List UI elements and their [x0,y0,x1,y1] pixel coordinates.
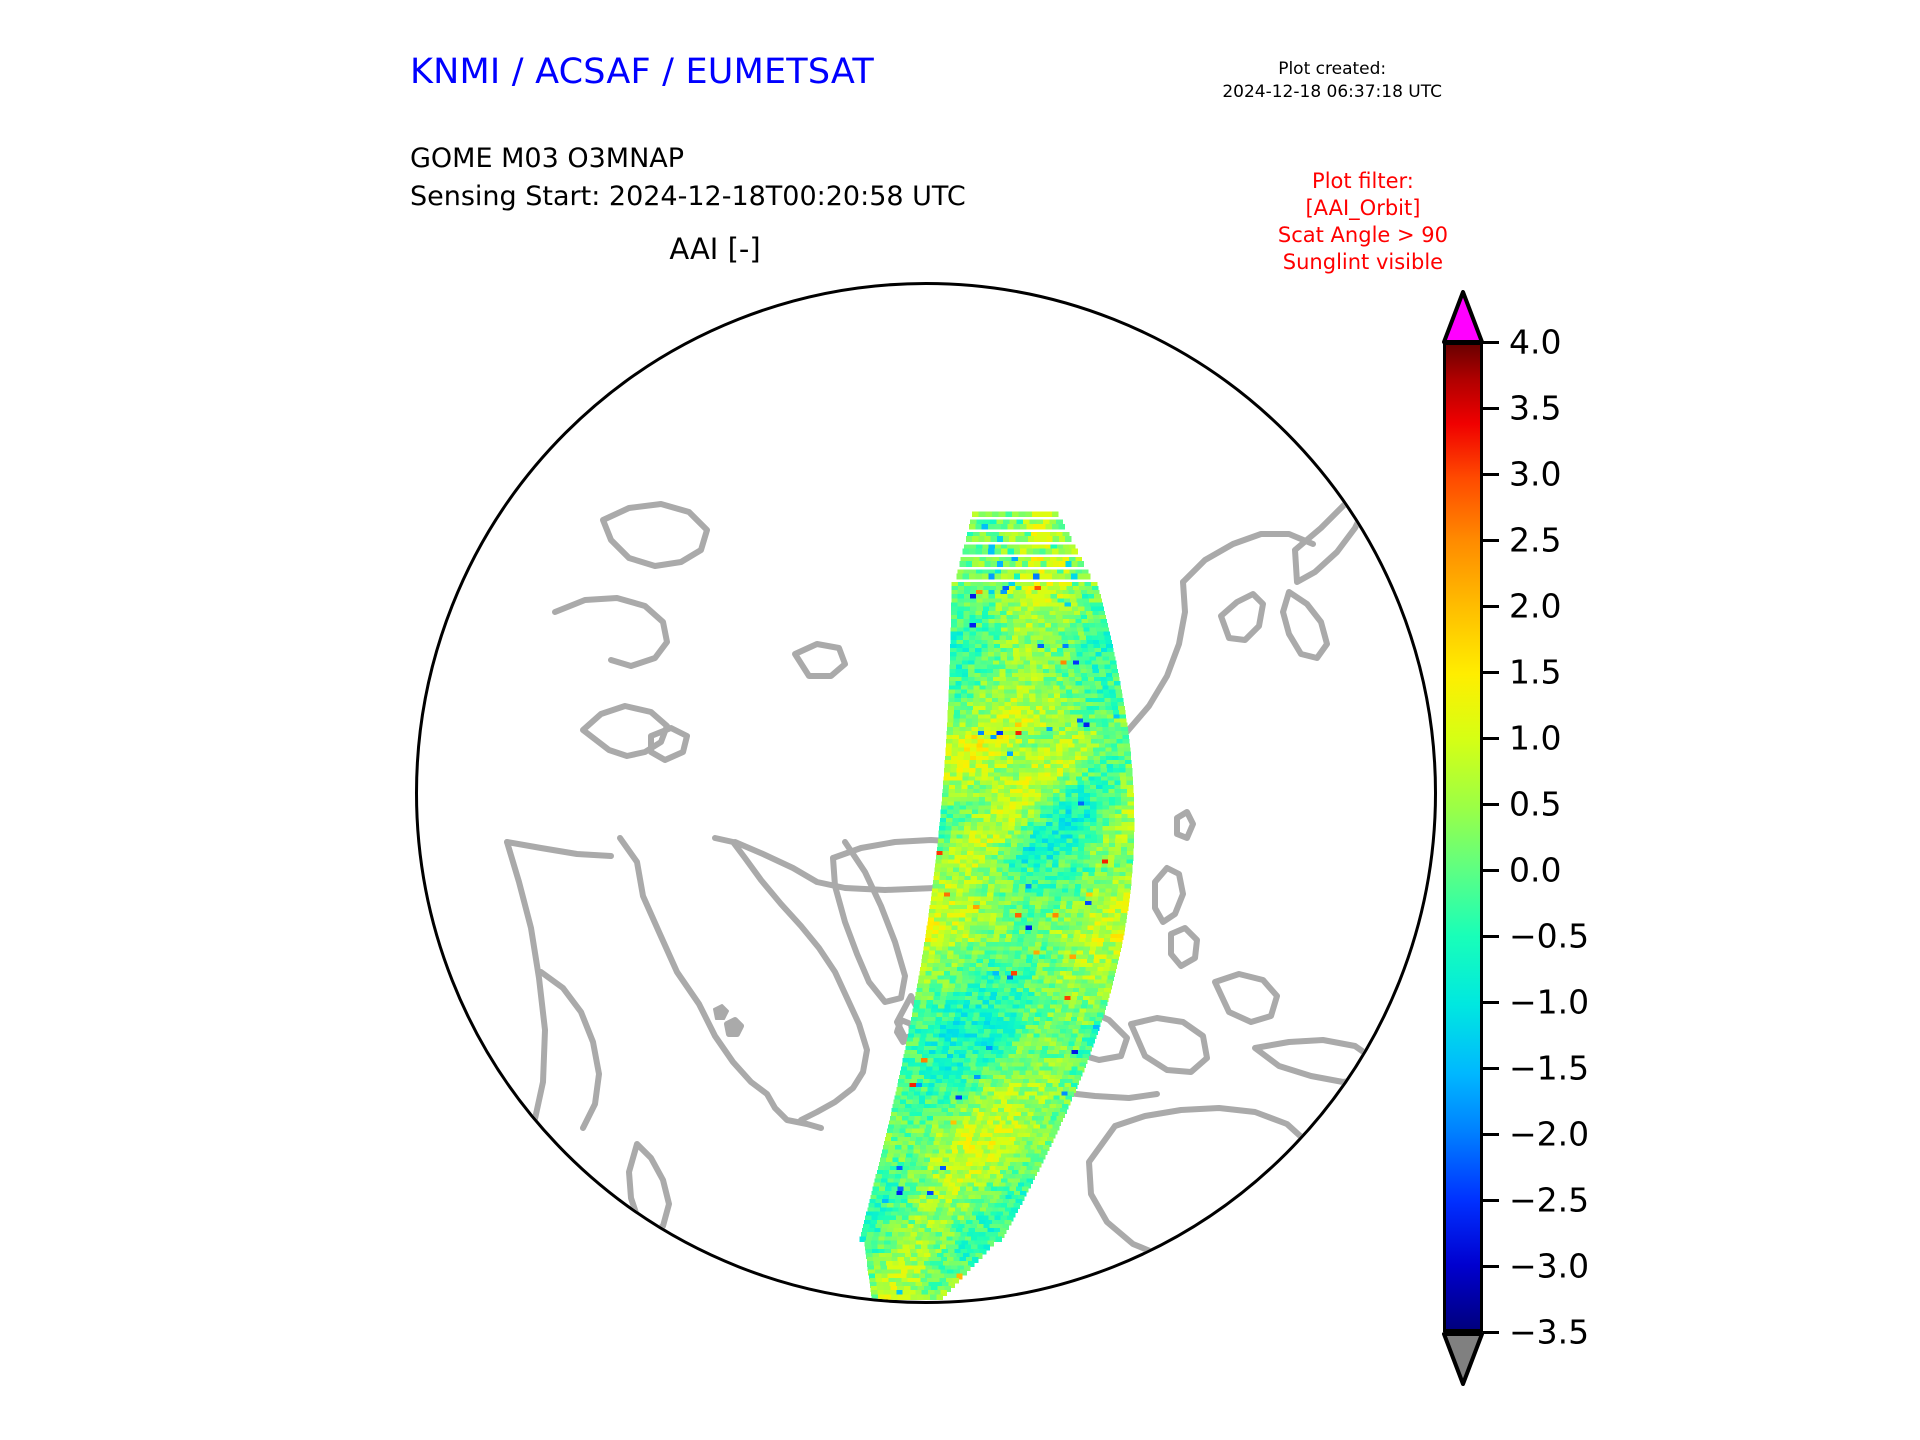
coastlines-layer [415,282,1437,1304]
product-block: GOME M03 O3MNAP Sensing Start: 2024-12-1… [410,140,966,217]
quantity-title: AAI [-] [0,232,1430,266]
colorbar-under-arrow [1442,1332,1484,1386]
colorbar-tick-mark [1483,869,1499,872]
colorbar-tick-mark [1483,1133,1499,1136]
colorbar-tick-label: −1.5 [1509,1049,1589,1088]
colorbar-tick-label: 0.0 [1509,851,1561,890]
plot-filter-block: Plot filter: [AAI_Orbit] Scat Angle > 90… [1278,168,1448,276]
plot-page: KNMI / ACSAF / EUMETSAT Plot created: 20… [0,0,1920,1440]
colorbar-tick-label: 3.5 [1509,389,1561,428]
colorbar-tick-mark [1483,935,1499,938]
colorbar-tick-mark [1483,1331,1499,1334]
colorbar-tick-mark [1483,1001,1499,1004]
colorbar-tick-label: −2.5 [1509,1181,1589,1220]
colorbar-tick-label: 2.5 [1509,521,1561,560]
colorbar-tick-mark [1483,1199,1499,1202]
colorbar-tick-mark [1483,803,1499,806]
colorbar-gradient [1443,342,1483,1332]
filter-line-2: [AAI_Orbit] [1278,195,1448,222]
colorbar-tick-label: 2.0 [1509,587,1561,626]
org-title: KNMI / ACSAF / EUMETSAT [410,52,874,92]
colorbar-tick-label: −1.0 [1509,983,1589,1022]
colorbar-tick-label: −3.5 [1509,1313,1589,1352]
colorbar-ticks: 4.03.53.02.52.01.51.00.50.0−0.5−1.0−1.5−… [1483,342,1683,1332]
colorbar-tick-label: −0.5 [1509,917,1589,956]
colorbar-tick-label: 3.0 [1509,455,1561,494]
coastline-paths [469,418,1435,1302]
colorbar-tick-mark [1483,737,1499,740]
globe-map [415,282,1437,1304]
product-name: GOME M03 O3MNAP [410,140,966,178]
colorbar-tick-mark [1483,539,1499,542]
plot-created-label: Plot created: [1222,58,1442,81]
colorbar-tick-mark [1483,473,1499,476]
sensing-start: Sensing Start: 2024-12-18T00:20:58 UTC [410,178,966,216]
plot-created-time: 2024-12-18 06:37:18 UTC [1222,81,1442,104]
colorbar-tick-mark [1483,1265,1499,1268]
colorbar-over-arrow [1442,290,1484,344]
colorbar-tick-mark [1483,407,1499,410]
colorbar-tick-mark [1483,671,1499,674]
plot-created-block: Plot created: 2024-12-18 06:37:18 UTC [1222,58,1442,103]
filter-line-1: Plot filter: [1278,168,1448,195]
colorbar-tick-label: −2.0 [1509,1115,1589,1154]
colorbar-tick-mark [1483,1067,1499,1070]
colorbar-tick-mark [1483,341,1499,344]
colorbar-tick-label: −3.0 [1509,1247,1589,1286]
colorbar-tick-label: 1.5 [1509,653,1561,692]
colorbar-tick-label: 1.0 [1509,719,1561,758]
colorbar-tick-mark [1483,605,1499,608]
filter-line-3: Scat Angle > 90 [1278,222,1448,249]
filter-line-4: Sunglint visible [1278,249,1448,276]
colorbar-tick-label: 4.0 [1509,323,1561,362]
colorbar-tick-label: 0.5 [1509,785,1561,824]
